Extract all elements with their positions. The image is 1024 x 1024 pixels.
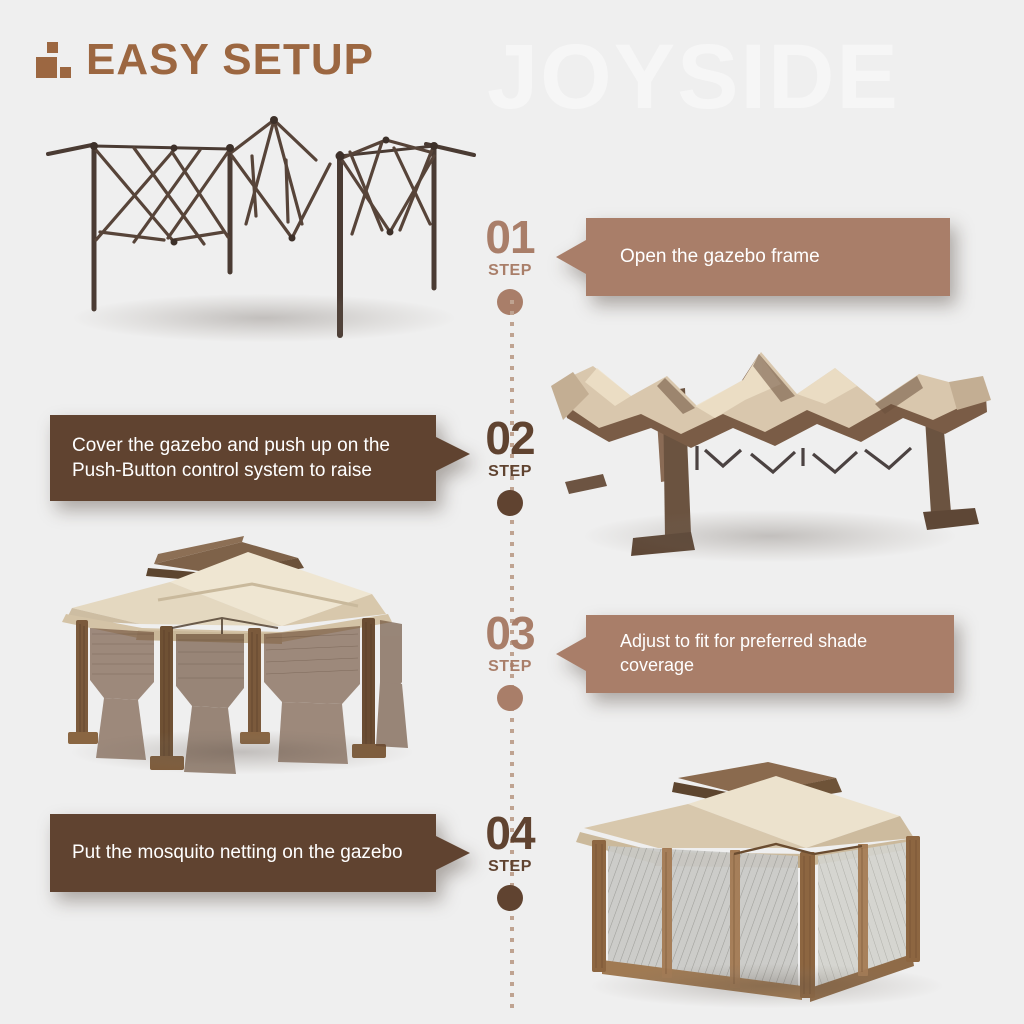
gazebo-frame-folded-photo <box>34 112 484 344</box>
three-squares-logo-icon <box>36 42 70 78</box>
step-dot-icon <box>497 685 523 711</box>
page-title: EASY SETUP <box>86 38 374 82</box>
step-marker-03: 03 STEP <box>455 612 565 711</box>
step-number: 01 <box>455 216 565 260</box>
gazebo-canopy-draped-photo <box>545 342 995 570</box>
step-word: STEP <box>455 658 565 676</box>
step-dot-icon <box>497 885 523 911</box>
step-dot-icon <box>497 490 523 516</box>
step-banner-text: Cover the gazebo and push up on the Push… <box>50 433 454 483</box>
brand-watermark: JOYSIDE <box>487 31 900 123</box>
step-word: STEP <box>455 463 565 481</box>
step-marker-04: 04 STEP <box>455 812 565 911</box>
step-number: 02 <box>455 417 565 461</box>
step-banner-03[interactable]: Adjust to fit for preferred shade covera… <box>556 615 954 693</box>
step-banner-01[interactable]: Open the gazebo frame <box>556 218 950 296</box>
gazebo-with-netting-photo <box>562 752 982 1014</box>
gazebo-erected-photo <box>42 522 462 780</box>
step-banner-text: Put the mosquito netting on the gazebo <box>50 840 467 865</box>
step-banner-text: Open the gazebo frame <box>556 244 842 269</box>
step-number: 04 <box>455 812 565 856</box>
step-word: STEP <box>455 262 565 280</box>
step-banner-line-1: Cover the gazebo and push up on the <box>72 435 390 456</box>
page-header: EASY SETUP <box>36 38 374 82</box>
step-marker-02: 02 STEP <box>455 417 565 516</box>
step-word: STEP <box>455 858 565 876</box>
step-banner-text: Adjust to fit for preferred shade covera… <box>556 630 954 678</box>
step-number: 03 <box>455 612 565 656</box>
step-banner-04[interactable]: Put the mosquito netting on the gazebo <box>50 814 470 892</box>
step-banner-line-2: Push-Button control system to raise <box>72 460 372 481</box>
infographic-canvas: JOYSIDE EASY SETUP <box>0 0 1024 1024</box>
step-banner-02[interactable]: Cover the gazebo and push up on the Push… <box>50 415 470 501</box>
